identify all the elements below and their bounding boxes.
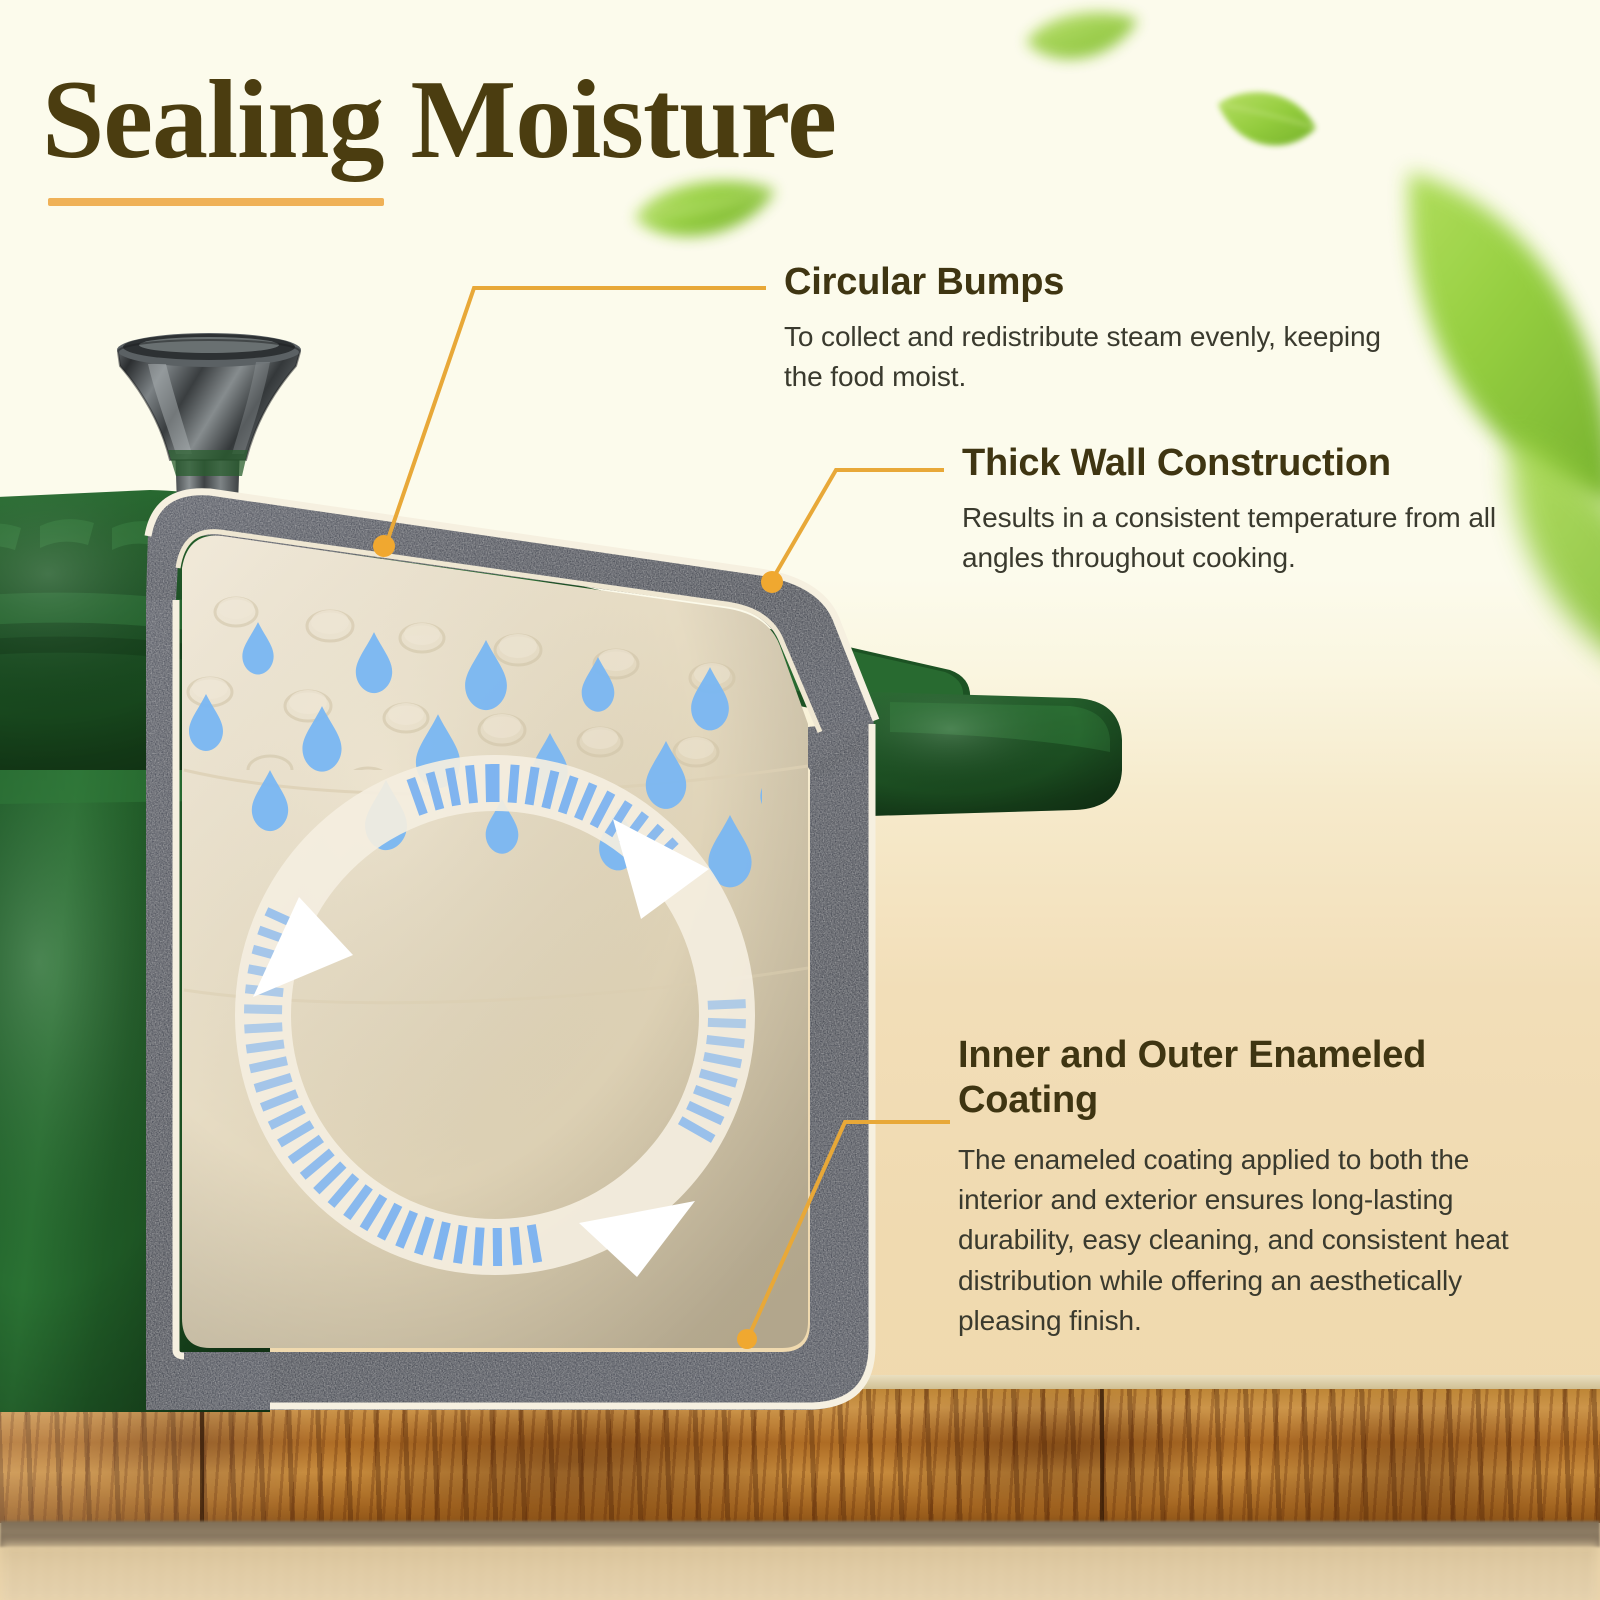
callout-body: To collect and redistribute steam evenly… <box>784 317 1424 397</box>
counter-surface <box>0 1543 1600 1600</box>
lid-knob-icon <box>117 333 301 505</box>
callout-body: The enameled coating applied to both the… <box>958 1140 1548 1342</box>
pot-handle <box>870 692 1122 816</box>
callout-thick-wall-construction: Thick Wall Construction Results in a con… <box>962 443 1562 578</box>
callout-heading: Inner and Outer Enameled Coating <box>958 1033 1498 1123</box>
callout-inner-and-outer-enameled-coating: Inner and Outer Enameled Coating The ena… <box>958 1033 1548 1341</box>
callout-heading: Circular Bumps <box>784 262 1444 304</box>
callout-heading: Thick Wall Construction <box>962 443 1562 485</box>
callout-body: Results in a consistent temperature from… <box>962 498 1558 578</box>
title-underline <box>48 198 384 206</box>
page-title: Sealing Moisture <box>42 62 836 180</box>
callout-circular-bumps: Circular Bumps To collect and redistribu… <box>784 262 1444 397</box>
infographic-stage: Sealing Moisture <box>0 0 1600 1600</box>
